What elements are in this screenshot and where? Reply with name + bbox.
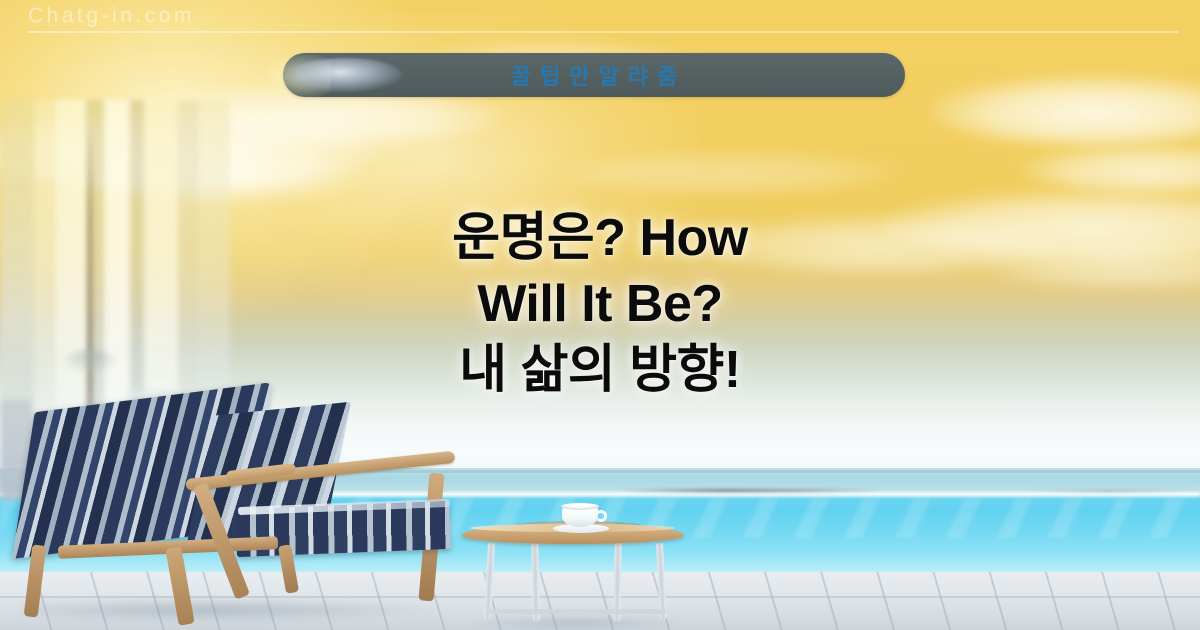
headline-line-3: 내 삶의 방향!: [300, 337, 900, 403]
banner-label: 꿀팁만알랴줌: [283, 53, 905, 97]
banner-pill: 꿀팁만알랴줌: [283, 53, 905, 97]
lamp-shade-icon: [64, 350, 116, 372]
lounge-chair: [0, 395, 460, 630]
table-shadow: [470, 615, 680, 630]
headline-line-2: Will It Be?: [300, 271, 900, 337]
chair-shadow: [20, 599, 440, 621]
table-crossbar: [486, 609, 666, 614]
poster-canvas: Chatg-in.com 꿀팁만알랴줌 운명은? How Will It Be?…: [0, 0, 1200, 630]
table-leg: [484, 543, 495, 619]
cup-lip: [561, 503, 599, 510]
site-watermark: Chatg-in.com: [28, 4, 195, 28]
coffee-cup-icon: [553, 501, 609, 531]
headline-title: 운명은? How Will It Be? 내 삶의 방향!: [300, 205, 900, 403]
table-leg: [656, 543, 667, 619]
watermark-divider: [28, 31, 1178, 33]
headline-line-1: 운명은? How: [300, 205, 900, 271]
